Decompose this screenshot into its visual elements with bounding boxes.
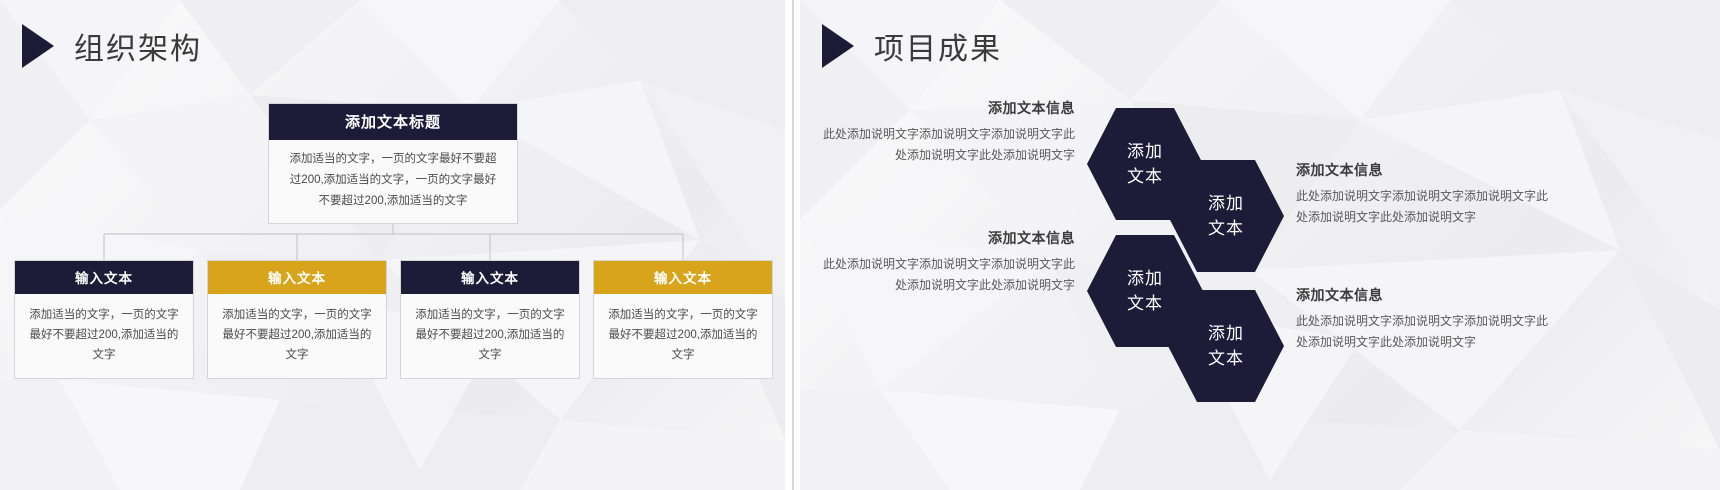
org-leaf-box-1[interactable]: 输入文本 添加适当的文字，一页的文字最好不要超过200,添加适当的文字 [14,260,194,379]
info-block-2: 添加文本信息 此处添加说明文字添加说明文字添加说明文字此处添加说明文字此处添加说… [815,228,1075,296]
page-title-right: 项目成果 [874,24,1002,68]
org-root-box[interactable]: 添加文本标题 添加适当的文字，一页的文字最好不要超过200,添加适当的文字，一页… [268,103,518,224]
hexagon-3-label: 添加 文本 [1127,266,1163,316]
org-leaf-title-1: 输入文本 [15,261,193,294]
info-block-2-title: 添加文本信息 [815,228,1075,248]
hexagon-4[interactable]: 添加 文本 [1168,290,1284,402]
info-block-4: 添加文本信息 此处添加说明文字添加说明文字添加说明文字此处添加说明文字此处添加说… [1296,285,1558,353]
hexagon-1-label: 添加 文本 [1127,139,1163,189]
org-leaf-box-3[interactable]: 输入文本 添加适当的文字，一页的文字最好不要超过200,添加适当的文字 [400,260,580,379]
org-root-body: 添加适当的文字，一页的文字最好不要超过200,添加适当的文字，一页的文字最好不要… [269,140,517,223]
org-leaf-body-4: 添加适当的文字，一页的文字最好不要超过200,添加适当的文字 [594,294,772,378]
org-leaf-title-4: 输入文本 [594,261,772,294]
play-triangle-icon [822,24,854,68]
org-leaf-body-2: 添加适当的文字，一页的文字最好不要超过200,添加适当的文字 [208,294,386,378]
org-leaf-body-3: 添加适当的文字，一页的文字最好不要超过200,添加适当的文字 [401,294,579,378]
org-root-title: 添加文本标题 [269,104,517,140]
left-slide-header: 组织架构 [22,24,202,68]
play-triangle-icon [22,24,54,68]
org-chart-connectors [0,0,785,490]
hexagon-4-label: 添加 文本 [1208,321,1244,371]
info-block-2-body: 此处添加说明文字添加说明文字添加说明文字此处添加说明文字此处添加说明文字 [815,254,1075,296]
info-block-3-title: 添加文本信息 [1296,160,1558,180]
slide-divider [785,0,800,490]
info-block-1-title: 添加文本信息 [815,98,1075,118]
info-block-3: 添加文本信息 此处添加说明文字添加说明文字添加说明文字此处添加说明文字此处添加说… [1296,160,1558,228]
org-leaf-box-2[interactable]: 输入文本 添加适当的文字，一页的文字最好不要超过200,添加适当的文字 [207,260,387,379]
hexagon-2-label: 添加 文本 [1208,191,1244,241]
info-block-1: 添加文本信息 此处添加说明文字添加说明文字添加说明文字此处添加说明文字此处添加说… [815,98,1075,166]
info-block-4-title: 添加文本信息 [1296,285,1558,305]
org-leaf-box-4[interactable]: 输入文本 添加适当的文字，一页的文字最好不要超过200,添加适当的文字 [593,260,773,379]
org-leaf-title-3: 输入文本 [401,261,579,294]
slide-deck: 组织架构 添加文本标题 添加适当的文字，一页的文字最好不要超过200,添加适当的… [0,0,1720,490]
info-block-1-body: 此处添加说明文字添加说明文字添加说明文字此处添加说明文字此处添加说明文字 [815,124,1075,166]
page-title: 组织架构 [74,24,202,68]
org-leaf-body-1: 添加适当的文字，一页的文字最好不要超过200,添加适当的文字 [15,294,193,378]
info-block-4-body: 此处添加说明文字添加说明文字添加说明文字此处添加说明文字此处添加说明文字 [1296,311,1558,353]
info-block-3-body: 此处添加说明文字添加说明文字添加说明文字此处添加说明文字此处添加说明文字 [1296,186,1558,228]
org-leaf-title-2: 输入文本 [208,261,386,294]
slide-organization-structure: 组织架构 添加文本标题 添加适当的文字，一页的文字最好不要超过200,添加适当的… [0,0,785,490]
slide-project-results: 项目成果 添加 文本 添加 文本 添加 [800,0,1720,490]
right-slide-header: 项目成果 [822,24,1002,68]
background-polygon-pattern [0,0,785,490]
